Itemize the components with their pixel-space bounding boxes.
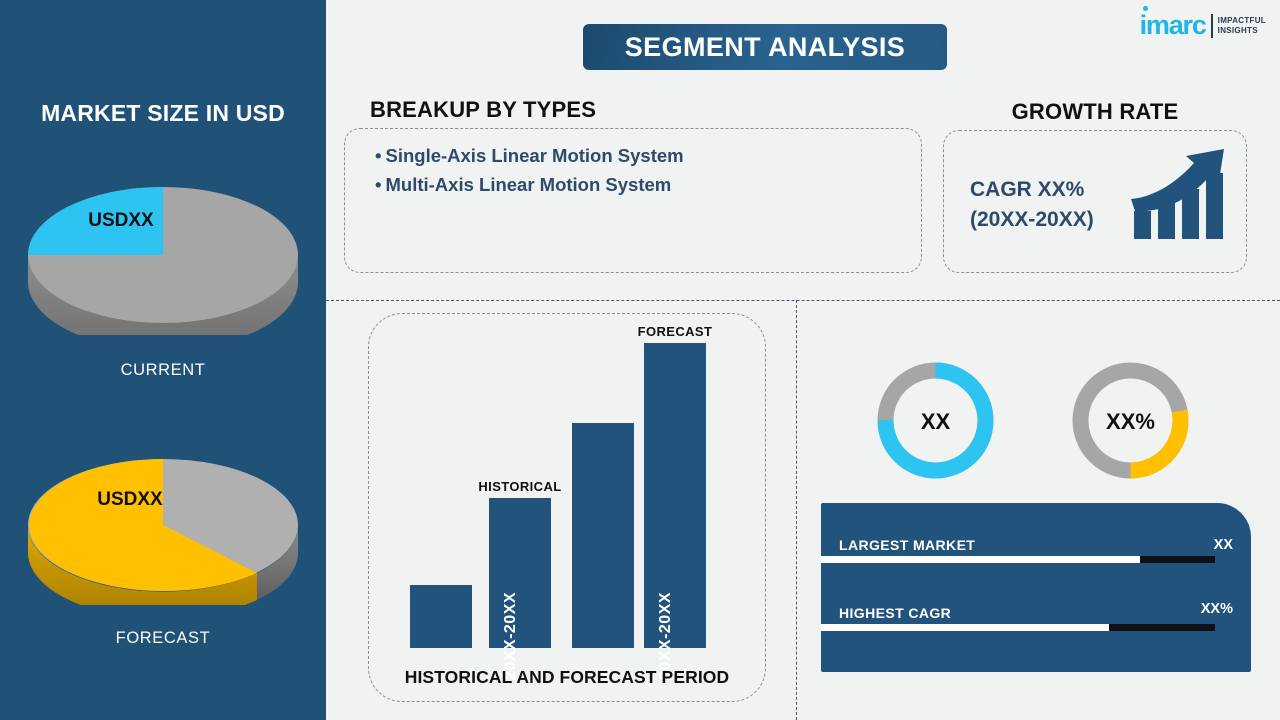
stats-panel: LARGEST MARKET XX HIGHEST CAGR XX% xyxy=(821,503,1251,672)
largest-market-donut: XX xyxy=(873,358,998,488)
highest-cagr-donut-value: XX% xyxy=(1106,409,1155,434)
growth-card: CAGR XX% (20XX-20XX) xyxy=(943,130,1247,273)
current-pie-block: USDXX CURRENT xyxy=(0,160,326,380)
logo-tagline-line1: IMPACTFUL xyxy=(1218,16,1266,25)
sidebar: MARKET SIZE IN USD USDXX CURRENT xyxy=(0,0,326,720)
logo-wordmark: imarc xyxy=(1140,12,1206,39)
forecast-pie-chart: USDXX xyxy=(18,440,308,605)
growth-heading: GROWTH RATE xyxy=(942,99,1248,125)
largest-market-label: LARGEST MARKET xyxy=(839,537,975,553)
bar-1: HISTORICAL 20XX-20XX xyxy=(489,498,551,648)
largest-market-value: XX xyxy=(1214,537,1233,553)
cagr-text: CAGR XX% (20XX-20XX) xyxy=(970,175,1094,235)
infographic-root: MARKET SIZE IN USD USDXX CURRENT xyxy=(0,0,1280,720)
cagr-line2: (20XX-20XX) xyxy=(970,205,1094,235)
barchart-axis-label: HISTORICAL AND FORECAST PERIOD xyxy=(368,667,766,688)
largest-market-donut-value: XX xyxy=(921,409,951,434)
bar-0 xyxy=(410,585,472,648)
forecast-pie-label: FORECAST xyxy=(0,629,326,648)
highest-cagr-progress-track xyxy=(821,624,1215,631)
bullet-icon: • xyxy=(375,174,381,195)
types-card: •Single-Axis Linear Motion System •Multi… xyxy=(344,128,922,273)
types-heading: BREAKUP BY TYPES xyxy=(370,97,596,123)
page-title: SEGMENT ANALYSIS xyxy=(625,32,905,63)
types-list: •Single-Axis Linear Motion System •Multi… xyxy=(375,141,684,199)
largest-market-progress-track xyxy=(821,556,1215,563)
bar-3: FORECAST 20XX-20XX xyxy=(644,343,706,648)
sidebar-title: MARKET SIZE IN USD xyxy=(0,100,326,127)
historical-forecast-bar-chart: HISTORICAL 20XX-20XX FORECAST 20XX-20XX … xyxy=(368,313,766,702)
stat-row-largest-market: LARGEST MARKET XX xyxy=(839,531,1233,553)
forecast-pie-value: USDXX xyxy=(97,489,163,510)
bar-1-top-label: HISTORICAL xyxy=(478,479,561,494)
growth-arrow-bars-icon xyxy=(1128,143,1232,252)
logo-text: imarc xyxy=(1140,10,1206,40)
highest-cagr-value: XX% xyxy=(1201,601,1233,617)
logo-tagline: IMPACTFUL INSIGHTS xyxy=(1218,16,1266,34)
forecast-pie-block: USDXX FORECAST xyxy=(0,440,326,648)
list-item: •Single-Axis Linear Motion System xyxy=(375,141,684,170)
type-item-label: Multi-Axis Linear Motion System xyxy=(385,174,671,195)
bullet-icon: • xyxy=(375,145,381,166)
current-pie-label: CURRENT xyxy=(0,361,326,380)
logo-tagline-line2: INSIGHTS xyxy=(1218,26,1266,35)
logo-dot-icon xyxy=(1143,6,1148,11)
type-item-label: Single-Axis Linear Motion System xyxy=(385,145,683,166)
cagr-line1: CAGR XX% xyxy=(970,175,1094,205)
imarc-logo: imarc IMPACTFUL INSIGHTS xyxy=(1140,12,1266,39)
largest-market-progress-fill xyxy=(821,556,1140,563)
highest-cagr-label: HIGHEST CAGR xyxy=(839,605,951,621)
bar-3-top-label: FORECAST xyxy=(638,324,713,339)
page-title-badge: SEGMENT ANALYSIS xyxy=(583,24,947,70)
stat-row-highest-cagr: HIGHEST CAGR XX% xyxy=(839,599,1233,621)
current-pie-chart: USDXX xyxy=(18,160,308,335)
highest-cagr-progress-fill xyxy=(821,624,1109,631)
list-item: •Multi-Axis Linear Motion System xyxy=(375,170,684,199)
highest-cagr-donut: XX% xyxy=(1068,358,1193,488)
vertical-divider xyxy=(796,300,797,720)
logo-divider-icon xyxy=(1211,14,1213,38)
bar-2 xyxy=(572,423,634,648)
horizontal-divider xyxy=(326,300,1280,301)
current-pie-value: USDXX xyxy=(88,210,154,231)
